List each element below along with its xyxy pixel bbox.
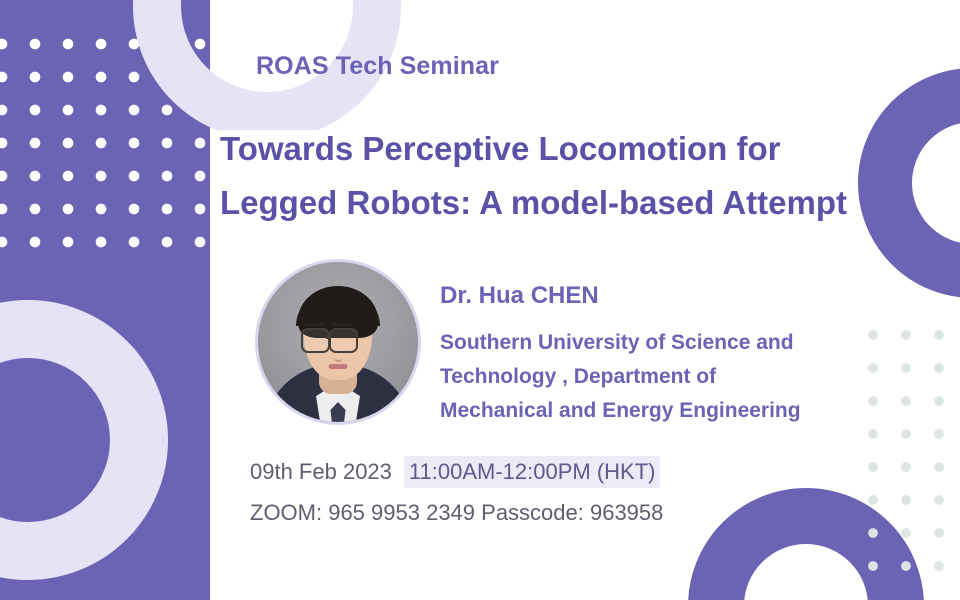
- portrait-glasses-left-lens: [301, 328, 330, 353]
- portrait-glasses-bridge: [326, 336, 331, 339]
- affiliation-line-3: Mechanical and Energy Engineering: [440, 394, 910, 428]
- portrait-nose: [334, 350, 343, 362]
- seminar-poster: ROAS Tech Seminar Towards Perceptive Loc…: [0, 0, 960, 600]
- avatar: [258, 262, 418, 422]
- affiliation-line-2: Technology , Department of: [440, 360, 910, 394]
- portrait-eyebrow-left: [303, 323, 324, 326]
- seminar-time: 11:00AM-12:00PM (HKT): [404, 456, 661, 488]
- title-line-1: Towards Perceptive Locomotion for: [220, 130, 781, 167]
- speaker-portrait-photo: [258, 262, 418, 422]
- zoom-meeting-info: ZOOM: 965 9953 2349 Passcode: 963958: [250, 500, 663, 526]
- seminar-date: 09th Feb 2023: [250, 459, 392, 484]
- schedule-row: 09th Feb 202311:00AM-12:00PM (HKT): [250, 459, 660, 485]
- speaker-affiliation: Southern University of Science and Techn…: [440, 326, 910, 428]
- page-title: Towards Perceptive Locomotion for Legged…: [220, 122, 960, 230]
- title-line-2: Legged Robots: A model-based Attempt: [220, 184, 848, 221]
- speaker-name: Dr. Hua CHEN: [440, 282, 599, 310]
- seminar-series-label: ROAS Tech Seminar: [256, 52, 499, 81]
- portrait-mouth: [329, 364, 348, 369]
- affiliation-line-1: Southern University of Science and: [440, 326, 910, 360]
- portrait-eyebrow-right: [331, 323, 352, 326]
- poster-content: ROAS Tech Seminar Towards Perceptive Loc…: [210, 0, 960, 600]
